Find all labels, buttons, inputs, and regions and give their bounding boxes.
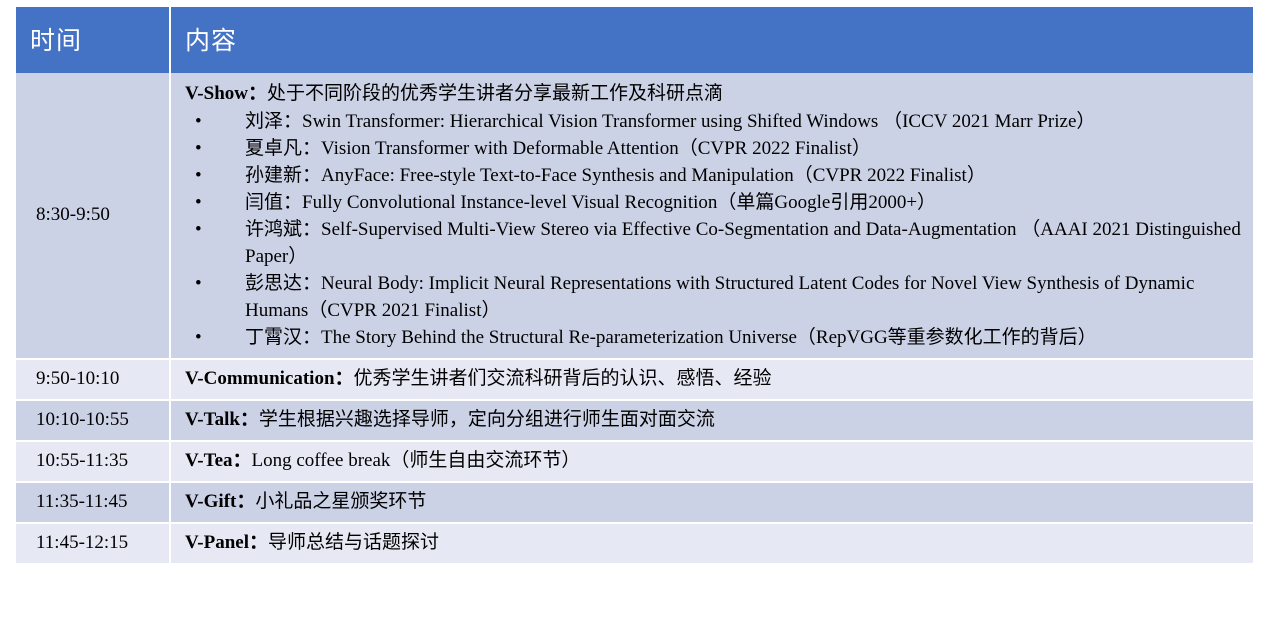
bullet-icon: • [195, 163, 202, 190]
talk-text: 闫值：Fully Convolutional Instance-level Vi… [245, 192, 936, 213]
bullet-icon: • [195, 190, 202, 217]
content-cell: V-Talk：学生根据兴趣选择导师，定向分组进行师生面对面交流 [170, 400, 1253, 441]
list-item: •夏卓凡：Vision Transformer with Deformable … [185, 136, 1241, 163]
talk-text: 彭思达：Neural Body: Implicit Neural Represe… [245, 273, 1194, 321]
time-cell: 8:30-9:50 [16, 73, 170, 359]
bullet-icon: • [195, 109, 202, 136]
talk-list: •刘泽：Swin Transformer: Hierarchical Visio… [185, 109, 1241, 352]
list-item: •刘泽：Swin Transformer: Hierarchical Visio… [185, 109, 1241, 136]
session-title: V-Communication： [185, 368, 354, 389]
session-title: V-Tea： [185, 450, 252, 471]
session-description: 学生根据兴趣选择导师，定向分组进行师生面对面交流 [259, 409, 715, 430]
content-cell: V-Tea：Long coffee break（师生自由交流环节） [170, 441, 1253, 482]
session-description: 导师总结与话题探讨 [268, 532, 439, 553]
list-item: •许鸿斌：Self-Supervised Multi-View Stereo v… [185, 217, 1241, 271]
time-cell: 11:35-11:45 [16, 482, 170, 523]
header-row: 时间 内容 [16, 7, 1253, 73]
table-row: 9:50-10:10 V-Communication：优秀学生讲者们交流科研背后… [16, 359, 1253, 400]
time-cell: 10:55-11:35 [16, 441, 170, 482]
talk-text: 刘泽：Swin Transformer: Hierarchical Vision… [245, 111, 1095, 132]
table-row: 10:10-10:55 V-Talk：学生根据兴趣选择导师，定向分组进行师生面对… [16, 400, 1253, 441]
content-cell: V-Communication：优秀学生讲者们交流科研背后的认识、感悟、经验 [170, 359, 1253, 400]
table-row: 11:35-11:45 V-Gift：小礼品之星颁奖环节 [16, 482, 1253, 523]
schedule-table: 时间 内容 8:30-9:50 V-Show：处于不同阶段的优秀学生讲者分享最新… [16, 7, 1253, 565]
time-cell: 9:50-10:10 [16, 359, 170, 400]
schedule-table-container: 时间 内容 8:30-9:50 V-Show：处于不同阶段的优秀学生讲者分享最新… [16, 7, 1253, 565]
content-cell: V-Gift：小礼品之星颁奖环节 [170, 482, 1253, 523]
table-row: 8:30-9:50 V-Show：处于不同阶段的优秀学生讲者分享最新工作及科研点… [16, 73, 1253, 359]
session-title: V-Gift： [185, 491, 255, 512]
talk-text: 夏卓凡：Vision Transformer with Deformable A… [245, 138, 871, 159]
talk-text: 许鸿斌：Self-Supervised Multi-View Stereo vi… [245, 219, 1241, 267]
content-cell: V-Show：处于不同阶段的优秀学生讲者分享最新工作及科研点滴 •刘泽：Swin… [170, 73, 1253, 359]
talk-text: 孙建新：AnyFace: Free-style Text-to-Face Syn… [245, 165, 986, 186]
list-item: •彭思达：Neural Body: Implicit Neural Repres… [185, 271, 1241, 325]
list-item: •闫值：Fully Convolutional Instance-level V… [185, 190, 1241, 217]
session-title: V-Panel： [185, 532, 268, 553]
session-title: V-Talk： [185, 409, 259, 430]
table-row: 10:55-11:35 V-Tea：Long coffee break（师生自由… [16, 441, 1253, 482]
time-cell: 11:45-12:15 [16, 523, 170, 564]
session-description: Long coffee break（师生自由交流环节） [252, 450, 581, 471]
time-cell: 10:10-10:55 [16, 400, 170, 441]
table-row: 11:45-12:15 V-Panel：导师总结与话题探讨 [16, 523, 1253, 564]
table-header: 时间 内容 [16, 7, 1253, 73]
session-description: 小礼品之星颁奖环节 [255, 491, 426, 512]
session-title: V-Show： [185, 83, 267, 104]
session-description: 处于不同阶段的优秀学生讲者分享最新工作及科研点滴 [267, 83, 723, 104]
content-cell: V-Panel：导师总结与话题探讨 [170, 523, 1253, 564]
column-header-time: 时间 [16, 7, 170, 73]
list-item: •丁霄汉：The Story Behind the Structural Re-… [185, 325, 1241, 352]
talk-text: 丁霄汉：The Story Behind the Structural Re-p… [245, 327, 1097, 348]
bullet-icon: • [195, 136, 202, 163]
session-headline: V-Show：处于不同阶段的优秀学生讲者分享最新工作及科研点滴 [185, 81, 1241, 108]
bullet-icon: • [195, 217, 202, 244]
bullet-icon: • [195, 325, 202, 352]
table-body: 8:30-9:50 V-Show：处于不同阶段的优秀学生讲者分享最新工作及科研点… [16, 73, 1253, 564]
bullet-icon: • [195, 271, 202, 298]
list-item: •孙建新：AnyFace: Free-style Text-to-Face Sy… [185, 163, 1241, 190]
column-header-content: 内容 [170, 7, 1253, 73]
session-description: 优秀学生讲者们交流科研背后的认识、感悟、经验 [354, 368, 772, 389]
